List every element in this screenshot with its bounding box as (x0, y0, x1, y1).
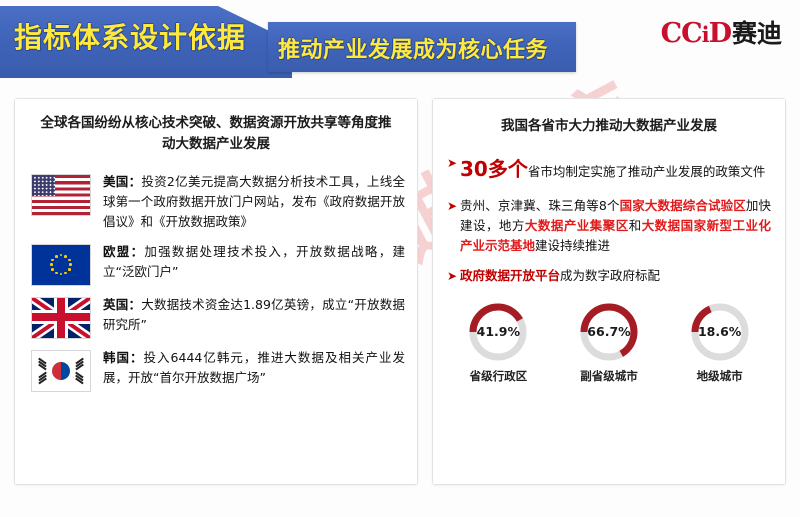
list-item: ➤ 30多个省市均制定实施了推动产业发展的政策文件 (447, 153, 771, 186)
left-panel-title: 全球各国纷纷从核心技术突破、数据资源开放共享等角度推动大数据产业发展 (15, 99, 417, 155)
content-panels: 全球各国纷纷从核心技术突破、数据资源开放共享等角度推动大数据产业发展 美国：投资… (14, 98, 786, 485)
bullet-seg-4: 大数据产业集聚区 (525, 218, 629, 233)
flag-usa-icon (31, 174, 91, 216)
list-item: ➤ 贵州、京津冀、珠三角等8个国家大数据综合试验区加快建设，地方大数据产业集聚区… (447, 196, 771, 256)
country-text: 大数据技术资金达1.89亿英镑，成立“开放数据研究所” (103, 297, 405, 332)
country-description: 韩国：投入6444亿韩元，推进大数据及相关产业发展，开放“首尔开放数据广场” (103, 348, 405, 389)
arrow-marker-icon: ➤ (447, 269, 460, 283)
bullet-text: 贵州、京津冀、珠三角等8个国家大数据综合试验区加快建设，地方大数据产业集聚区和大… (460, 196, 771, 256)
bullet-text: 政府数据开放平台成为数字政府标配 (460, 266, 660, 287)
bullet-seg-5: 和 (629, 218, 642, 233)
country-list: 美国：投资2亿美元提高大数据分析技术工具，上线全球第一个政府数据开放门户网站，发… (15, 155, 417, 392)
list-item: 英国：大数据技术资金达1.89亿英镑，成立“开放数据研究所” (31, 295, 405, 339)
bullet-seg-7: 建设持续推进 (535, 238, 610, 253)
ccid-logo: CCiD 赛迪 (661, 14, 782, 50)
logo-ccid-text: CCiD (661, 18, 731, 49)
bullet-rest: 成为数字政府标配 (560, 268, 660, 283)
logo-chinese-text: 赛迪 (732, 14, 782, 50)
country-name: 欧盟： (103, 244, 144, 259)
bullet-highlight: 30多个 (460, 157, 528, 181)
donut-value: 18.6% (689, 301, 751, 363)
left-panel-content: 全球各国纷纷从核心技术突破、数据资源开放共享等角度推动大数据产业发展 美国：投资… (15, 99, 417, 484)
country-name: 韩国： (103, 350, 144, 365)
left-panel: 全球各国纷纷从核心技术突破、数据资源开放共享等角度推动大数据产业发展 美国：投资… (14, 98, 418, 485)
donut-ring: 41.9% (467, 301, 529, 363)
donut-chart-subprovincial: 66.7% 副省级城市 (559, 301, 659, 384)
bullet-seg-1: 贵州、京津冀、珠三角等8个 (460, 198, 620, 213)
bullet-list: ➤ 30多个省市均制定实施了推动产业发展的政策文件 ➤ 贵州、京津冀、珠三角等8… (433, 137, 785, 287)
country-description: 美国：投资2亿美元提高大数据分析技术工具，上线全球第一个政府数据开放门户网站，发… (103, 172, 405, 233)
list-item: ➤ 政府数据开放平台成为数字政府标配 (447, 266, 771, 287)
donut-label: 副省级城市 (559, 368, 659, 384)
arrow-marker-icon: ➤ (447, 199, 460, 213)
flag-uk-icon (31, 297, 91, 339)
country-name: 美国： (103, 174, 141, 189)
country-description: 欧盟：加强数据处理技术投入，开放数据战略，建立“泛欧门户” (103, 242, 405, 283)
right-panel-content: 我国各省市大力推动大数据产业发展 ➤ 30多个省市均制定实施了推动产业发展的政策… (433, 99, 785, 484)
flag-eu-icon (31, 244, 91, 286)
right-panel: 我国各省市大力推动大数据产业发展 ➤ 30多个省市均制定实施了推动产业发展的政策… (432, 98, 786, 485)
bullet-highlight: 政府数据开放平台 (460, 268, 560, 283)
donut-label: 省级行政区 (448, 368, 548, 384)
country-text: 加强数据处理技术投入，开放数据战略，建立“泛欧门户” (103, 244, 405, 279)
bullet-rest: 省市均制定实施了推动产业发展的政策文件 (528, 164, 766, 179)
country-text: 投入6444亿韩元，推进大数据及相关产业发展，开放“首尔开放数据广场” (103, 350, 405, 385)
list-item: 美国：投资2亿美元提高大数据分析技术工具，上线全球第一个政府数据开放门户网站，发… (31, 172, 405, 233)
bullet-text: 30多个省市均制定实施了推动产业发展的政策文件 (460, 153, 765, 186)
donut-chart-group: 41.9% 省级行政区 66.7% 副省级城市 (433, 287, 785, 384)
logo-cc: CC (661, 18, 702, 49)
slide-root: 赛迪智库 政府 服务 指标体系设计依据 推动产业发展成为核心任务 CCiD 赛迪… (0, 0, 800, 517)
country-text: 投资2亿美元提高大数据分析技术工具，上线全球第一个政府数据开放门户网站，发布《政… (103, 174, 405, 230)
donut-value: 41.9% (467, 301, 529, 363)
logo-i: i (702, 22, 709, 47)
donut-ring: 18.6% (689, 301, 751, 363)
header-title-primary: 指标体系设计依据 (14, 16, 246, 56)
country-name: 英国： (103, 297, 141, 312)
right-panel-title: 我国各省市大力推动大数据产业发展 (433, 99, 785, 137)
list-item: 韩国：投入6444亿韩元，推进大数据及相关产业发展，开放“首尔开放数据广场” (31, 348, 405, 392)
donut-ring: 66.7% (578, 301, 640, 363)
donut-value: 66.7% (578, 301, 640, 363)
bullet-seg-2: 国家大数据综合试验区 (620, 198, 746, 213)
arrow-marker-icon: ➤ (447, 156, 460, 170)
donut-chart-provincial: 41.9% 省级行政区 (448, 301, 548, 384)
country-description: 英国：大数据技术资金达1.89亿英镑，成立“开放数据研究所” (103, 295, 405, 336)
slide-header: 指标体系设计依据 推动产业发展成为核心任务 CCiD 赛迪 (0, 0, 800, 86)
flag-korea-icon (31, 350, 91, 392)
header-title-secondary: 推动产业发展成为核心任务 (278, 32, 548, 64)
donut-label: 地级城市 (670, 368, 770, 384)
list-item: 欧盟：加强数据处理技术投入，开放数据战略，建立“泛欧门户” (31, 242, 405, 286)
logo-d: D (709, 18, 731, 49)
donut-chart-prefecture: 18.6% 地级城市 (670, 301, 770, 384)
